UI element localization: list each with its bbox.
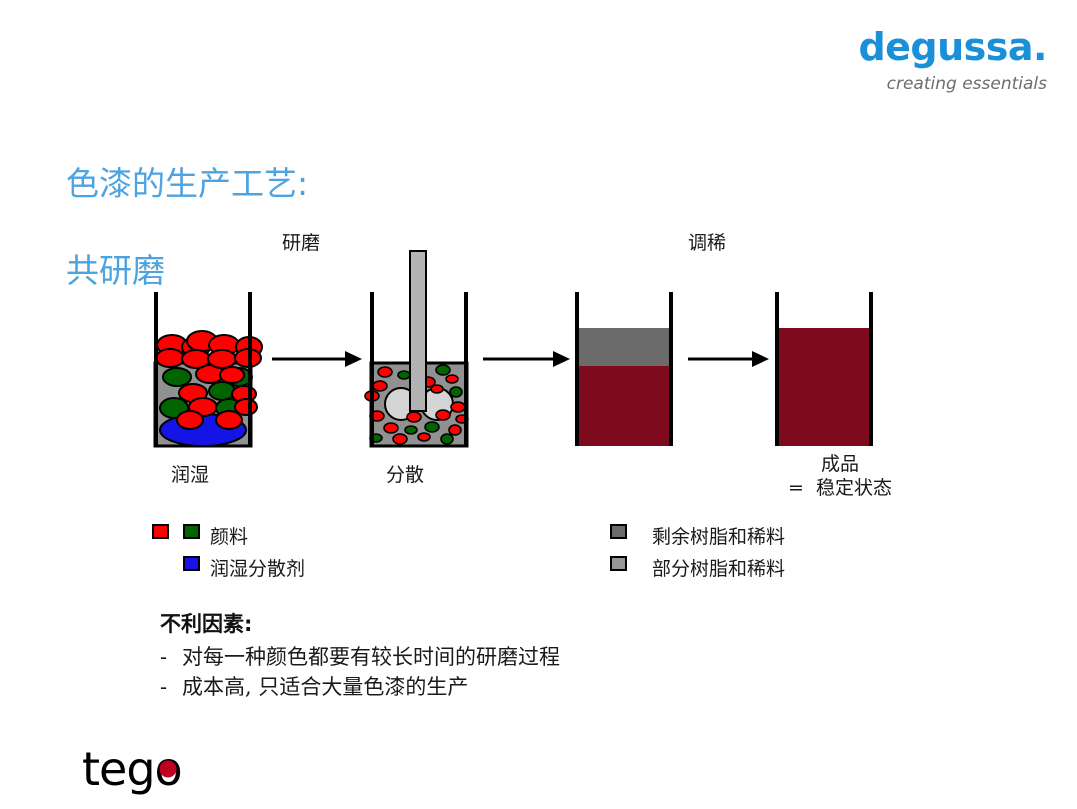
stage-caption-wetting: 润湿 <box>130 460 250 487</box>
drawbacks-block: 不利因素: - 对每一种颜色都要有较长时间的研磨过程 - 成本高, 只适合大量色… <box>160 608 560 703</box>
remaining-resin-layer <box>576 328 672 366</box>
drawbacks-heading: 不利因素: <box>160 608 560 638</box>
dispersed-particles <box>365 365 468 444</box>
arrow-letdown-to-finished <box>688 351 769 367</box>
page-title-line-2: 共研磨 <box>66 249 308 293</box>
brand-name: degussa. <box>858 28 1047 66</box>
brand-header: degussa. creating essentials <box>858 28 1047 93</box>
process-label-dilution: 调稀 <box>688 228 726 255</box>
dissolver-disc-left <box>385 388 417 420</box>
mill-base-grey-fill <box>371 363 467 446</box>
legend-swatch-wetting-agent <box>183 556 200 571</box>
beaker-dispersion <box>365 251 468 446</box>
paint-fill <box>576 366 672 446</box>
bullet-dash: - <box>160 642 170 672</box>
page-title-line-1: 色漆的生产工艺: <box>66 162 308 206</box>
stirrer-shaft <box>410 251 426 411</box>
beaker-letdown <box>576 292 672 446</box>
stage-caption-dispersion: 分散 <box>345 460 465 487</box>
legend-swatch-partial-resin <box>610 556 627 571</box>
arrow-wetting-to-dispersion <box>272 351 362 367</box>
drawback-item: - 对每一种颜色都要有较长时间的研磨过程 <box>160 642 560 672</box>
stage-caption-finished-product: 成品 = 稳定状态 <box>740 452 940 501</box>
legend-swatch-remaining-resin <box>610 524 627 539</box>
legend-label-wetting-agent: 润湿分散剂 <box>210 554 305 581</box>
process-label-grinding: 研磨 <box>282 228 320 255</box>
tego-logo-text: teg <box>82 742 155 796</box>
legend-label-pigment: 颜料 <box>210 522 248 549</box>
wetting-agent-pool <box>160 414 246 446</box>
tego-logo: tego <box>82 746 182 792</box>
tego-logo-dot-icon <box>160 761 177 778</box>
finished-product-state: = 稳定状态 <box>740 476 940 500</box>
page-title: 色漆的生产工艺: 共研磨 <box>66 118 308 336</box>
slide-canvas: degussa. creating essentials 色漆的生产工艺: 共研… <box>0 0 1077 809</box>
legend-label-remaining-resin: 剩余树脂和稀料 <box>652 522 785 549</box>
bullet-dash: - <box>160 672 170 702</box>
arrow-dispersion-to-letdown <box>483 351 570 367</box>
legend-swatch-pigment-green <box>183 524 200 539</box>
beaker-finished-product <box>776 292 872 446</box>
brand-tagline: creating essentials <box>858 76 1047 93</box>
drawback-text: 成本高, 只适合大量色漆的生产 <box>182 672 468 702</box>
legend-label-partial-resin: 部分树脂和稀料 <box>652 554 785 581</box>
finished-product-label: 成品 <box>740 452 940 476</box>
tego-logo-o: o <box>155 746 182 792</box>
pigment-particles-in-base <box>160 365 257 429</box>
pigment-agglomerates <box>156 331 262 368</box>
drawback-text: 对每一种颜色都要有较长时间的研磨过程 <box>182 642 560 672</box>
legend-swatch-pigment-red <box>152 524 169 539</box>
drawback-item: - 成本高, 只适合大量色漆的生产 <box>160 672 560 702</box>
dissolver-disc-right <box>421 388 453 420</box>
mill-base-grey-fill <box>155 363 251 446</box>
paint-fill <box>776 328 872 446</box>
